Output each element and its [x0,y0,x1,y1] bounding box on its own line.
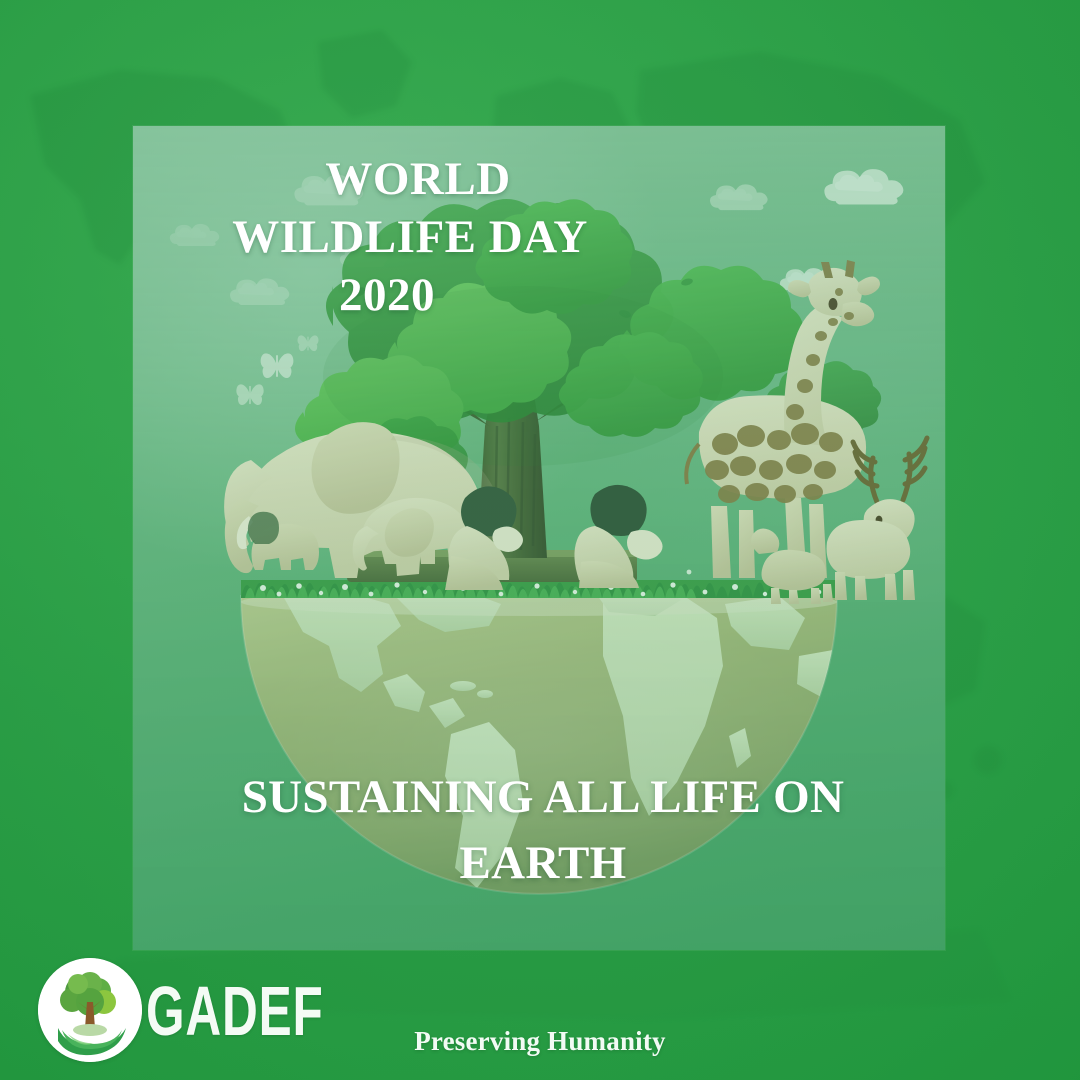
headline-line-2: WILDLIFE DAY [133,208,693,266]
subhead-line-2: EARTH [173,830,913,896]
headline-line-3: 2020 [133,266,693,324]
headline-line-1: WORLD [143,150,693,208]
poster-subhead: SUSTAINING ALL LIFE ON EARTH [173,764,913,896]
poster-headline: WORLD WILDLIFE DAY 2020 [133,150,693,324]
footer-bar: GADEF [0,950,1080,1080]
subhead-line-1: SUSTAINING ALL LIFE ON [173,764,913,830]
footer-tagline: Preserving Humanity [0,1026,1080,1057]
poster-panel: WORLD WILDLIFE DAY 2020 SUSTAINING ALL L… [133,126,945,950]
